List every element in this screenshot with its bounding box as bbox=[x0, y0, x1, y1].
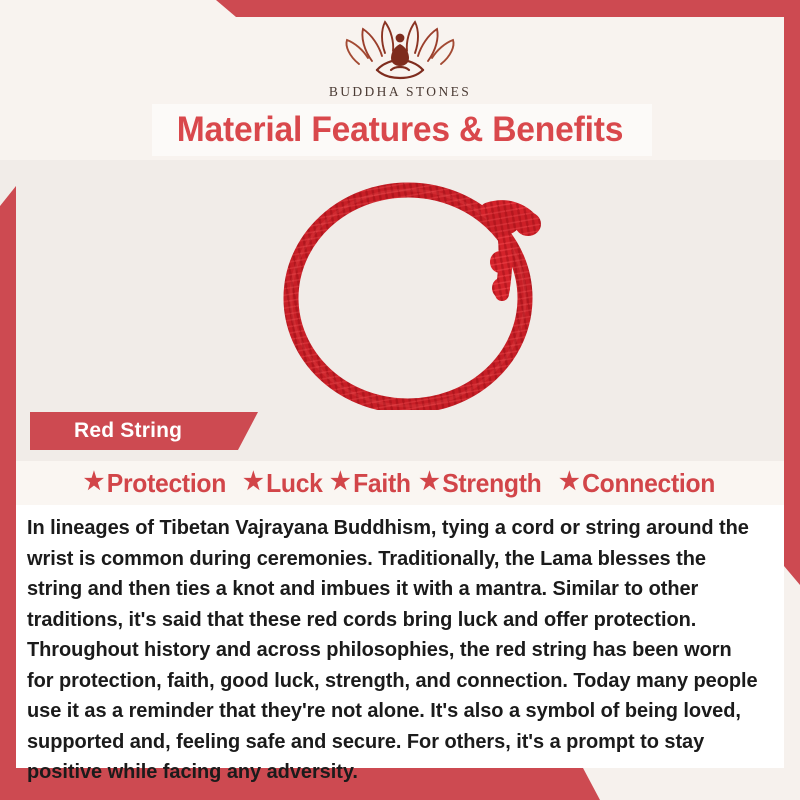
star-icon: ★ bbox=[330, 470, 350, 494]
lotus-meditation-icon bbox=[339, 16, 461, 82]
benefit-faith: ★ Faith bbox=[330, 468, 411, 499]
benefit-luck: ★ Luck bbox=[243, 468, 323, 499]
benefits-strip: ★ Protection ★ Luck ★ Faith ★ Strength ★… bbox=[16, 461, 784, 505]
star-icon: ★ bbox=[84, 470, 104, 494]
benefit-label: Protection bbox=[107, 468, 226, 499]
star-icon: ★ bbox=[243, 470, 263, 494]
benefit-label: Faith bbox=[353, 468, 411, 499]
star-icon: ★ bbox=[419, 470, 439, 494]
product-photo bbox=[16, 160, 784, 410]
material-label: Red String bbox=[30, 412, 238, 450]
brand-logo: BUDDHA STONES bbox=[0, 16, 800, 100]
benefit-label: Connection bbox=[583, 468, 716, 499]
benefit-connection: ★ Connection bbox=[560, 468, 716, 499]
description-text: In lineages of Tibetan Vajrayana Buddhis… bbox=[27, 513, 761, 788]
red-string-bracelet-image bbox=[260, 160, 580, 410]
brand-name: BUDDHA STONES bbox=[0, 84, 800, 100]
benefit-protection: ★ Protection bbox=[84, 468, 226, 499]
page-title: Material Features & Benefits bbox=[16, 104, 784, 156]
star-icon: ★ bbox=[560, 470, 580, 494]
infographic-poster: BUDDHA STONES Material Features & Benefi… bbox=[0, 0, 800, 800]
description-panel: In lineages of Tibetan Vajrayana Buddhis… bbox=[16, 505, 784, 768]
benefit-label: Strength bbox=[442, 468, 541, 499]
decorative-left-band bbox=[0, 186, 16, 800]
benefit-label: Luck bbox=[266, 468, 323, 499]
benefit-strength: ★ Strength bbox=[419, 468, 541, 499]
